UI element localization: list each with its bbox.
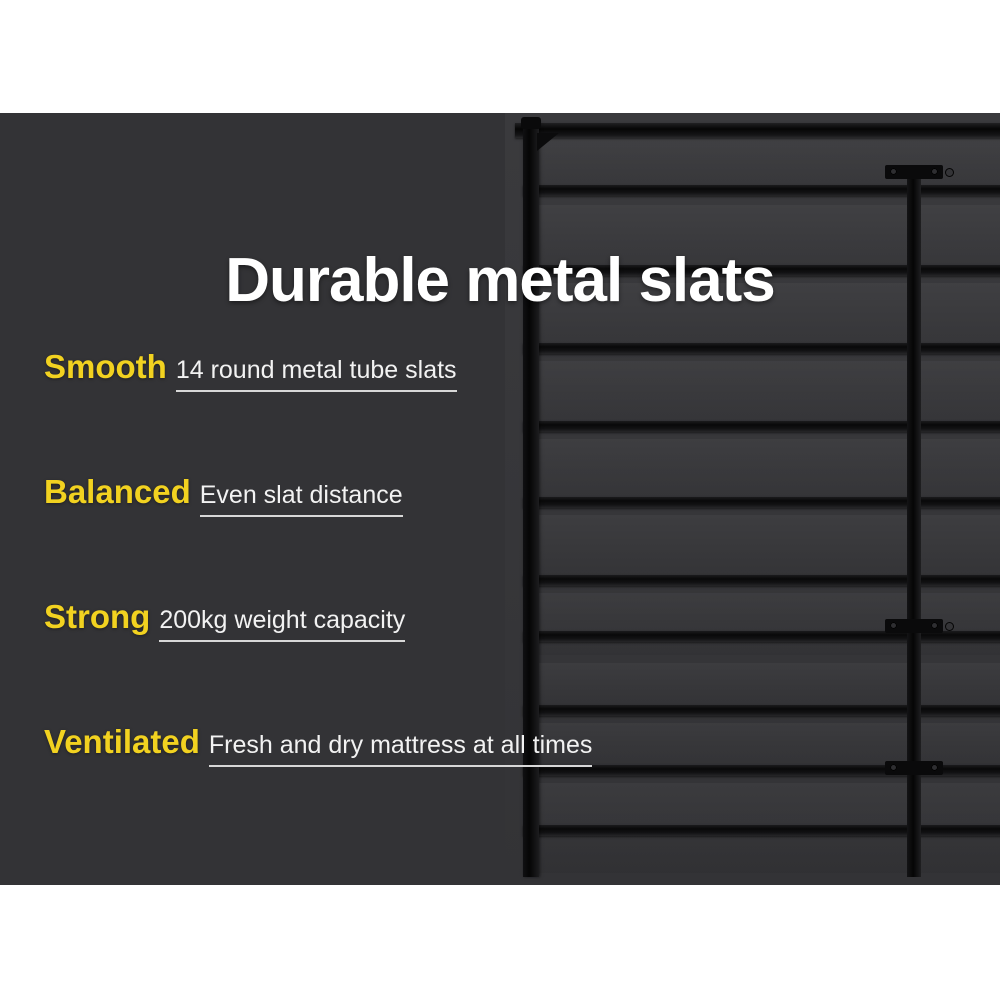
metal-slat	[523, 825, 1000, 836]
feature-description: Fresh and dry mattress at all times	[209, 732, 592, 767]
feature-description: 14 round metal tube slats	[176, 357, 457, 392]
product-feature-image: Durable metal slats Smooth 14 round meta…	[0, 0, 1000, 1000]
feature-label: Ventilated	[44, 723, 200, 761]
feature-row-smooth: Smooth 14 round metal tube slats	[44, 348, 544, 473]
feature-row-balanced: Balanced Even slat distance	[44, 473, 544, 598]
dark-feature-panel: Durable metal slats Smooth 14 round meta…	[0, 113, 1000, 885]
bolt-bracket	[885, 761, 943, 775]
metal-slat	[523, 185, 1000, 196]
metal-slat	[523, 705, 1000, 716]
metal-slat	[523, 421, 1000, 432]
metal-slat	[523, 343, 1000, 354]
feature-label: Balanced	[44, 473, 191, 511]
feature-description: 200kg weight capacity	[159, 607, 405, 642]
product-photo-bed-slats	[505, 113, 1000, 885]
feature-label: Strong	[44, 598, 150, 636]
bolt-stud	[945, 168, 954, 177]
feature-list: Smooth 14 round metal tube slats Balance…	[44, 348, 544, 848]
frame-corner-gusset	[537, 133, 559, 151]
bolt-stud	[945, 622, 954, 631]
feature-description: Even slat distance	[200, 482, 403, 517]
frame-post-cap	[521, 117, 541, 129]
bolt-bracket	[885, 165, 943, 179]
metal-slat	[523, 575, 1000, 586]
feature-label: Smooth	[44, 348, 167, 386]
frame-top-rail	[515, 123, 1000, 138]
bolt-bracket	[885, 619, 943, 633]
page-title: Durable metal slats	[0, 250, 1000, 312]
feature-row-ventilated: Ventilated Fresh and dry mattress at all…	[44, 723, 544, 848]
metal-slat	[523, 497, 1000, 508]
feature-row-strong: Strong 200kg weight capacity	[44, 598, 544, 723]
